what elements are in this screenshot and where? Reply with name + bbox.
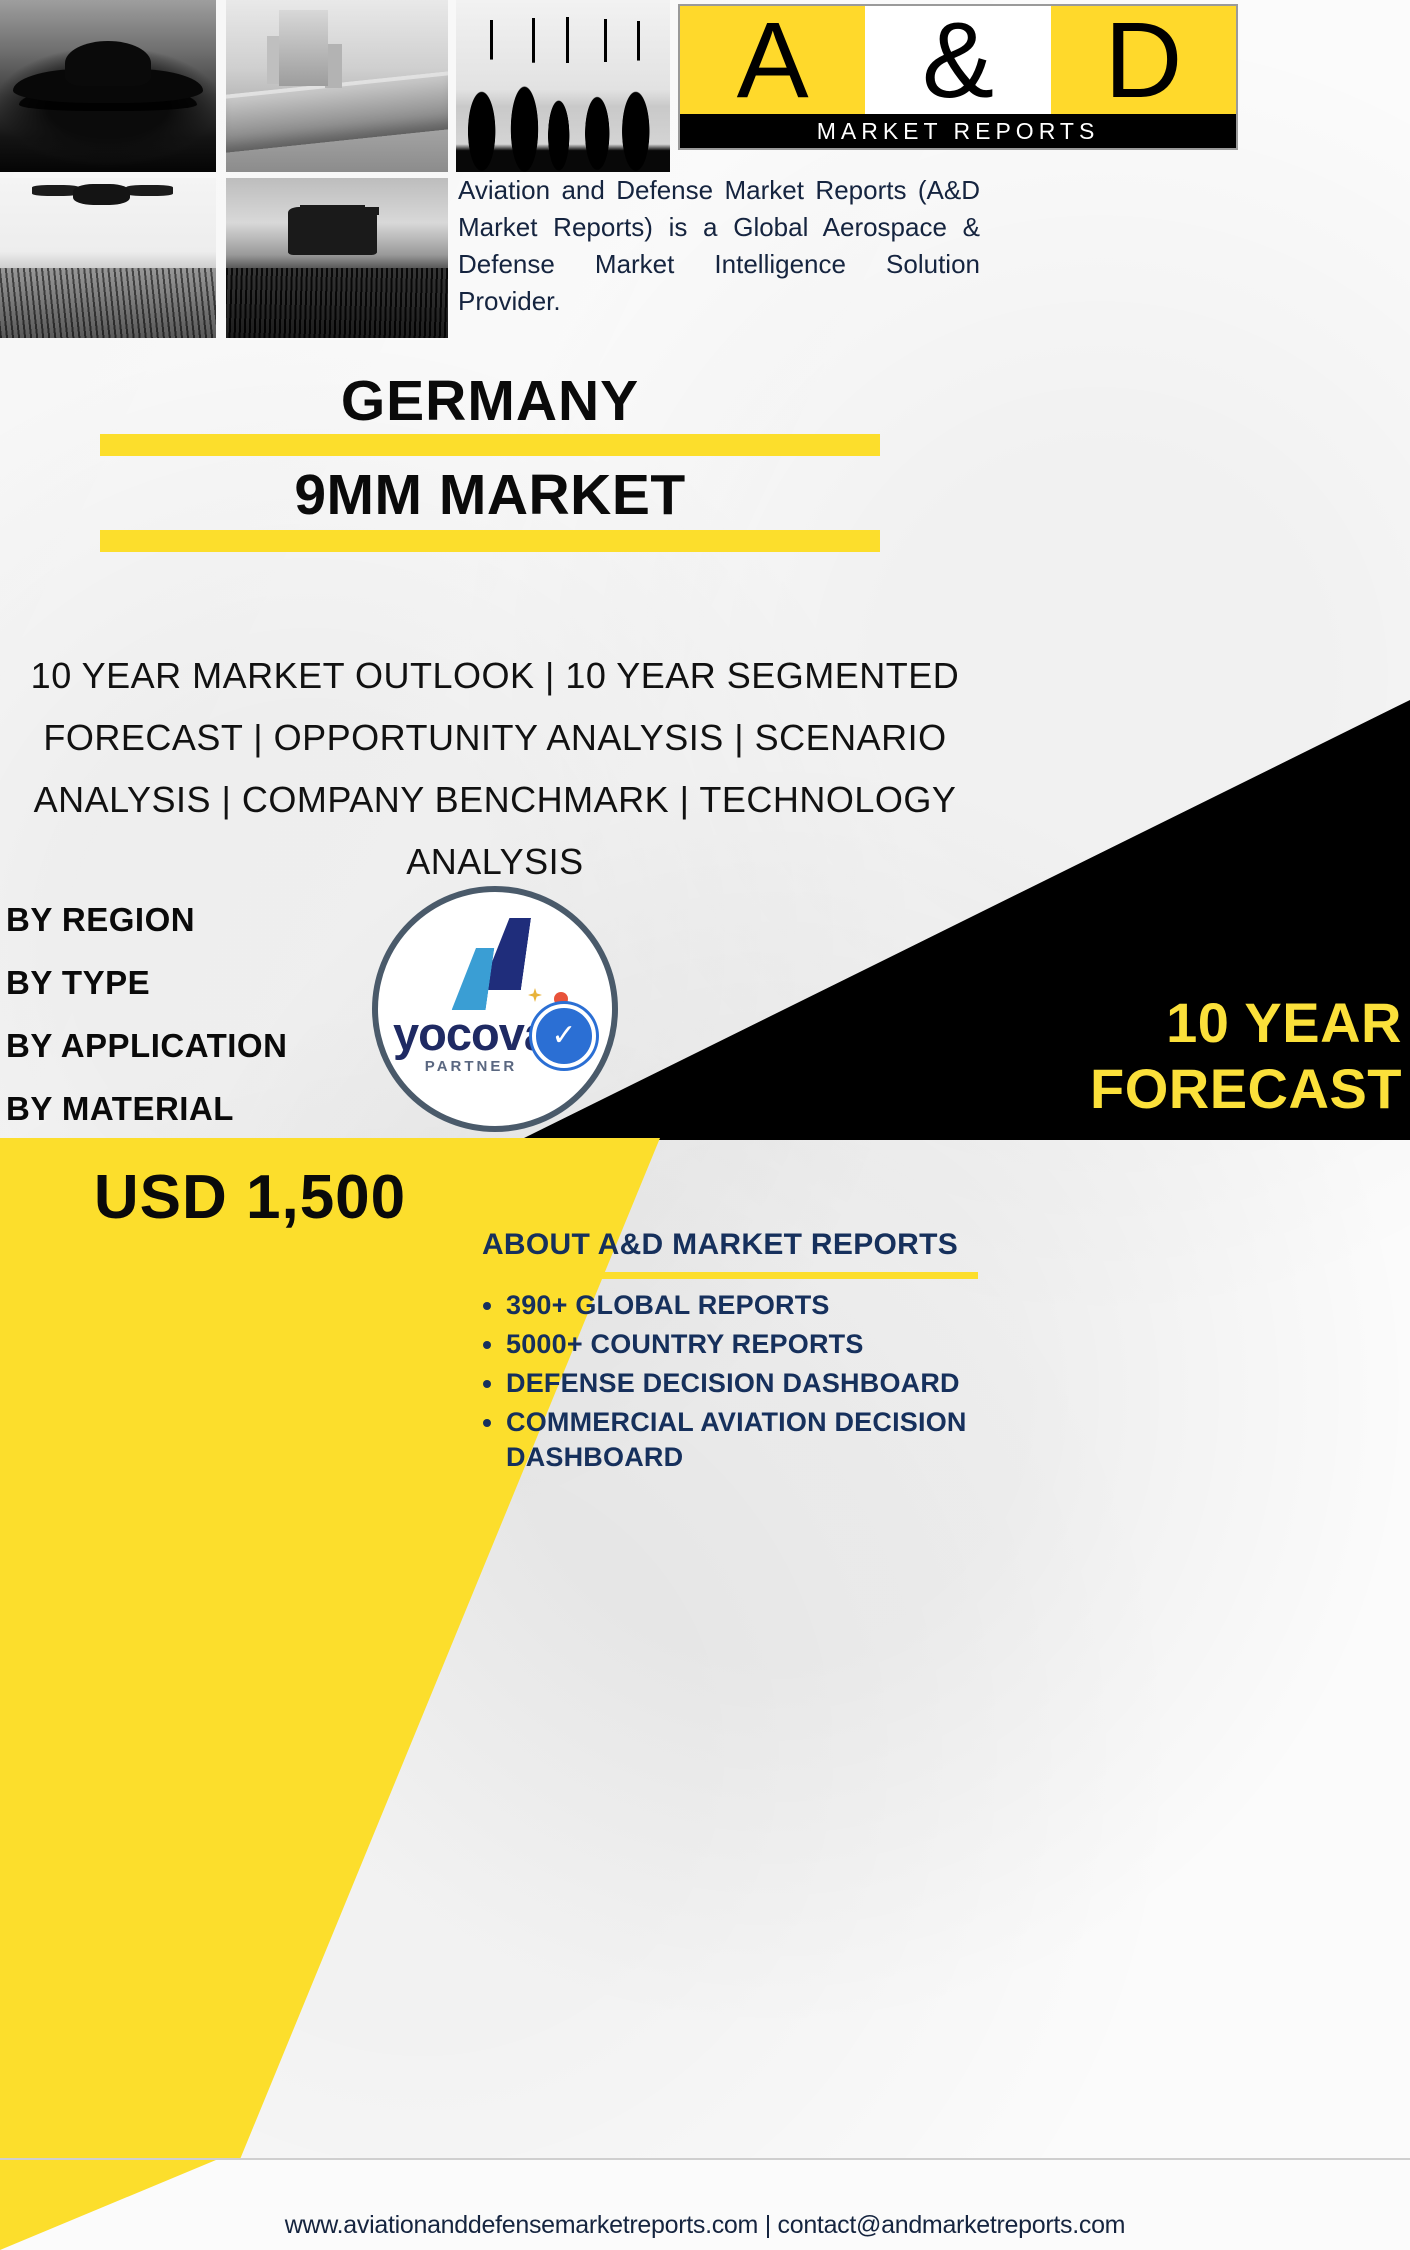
company-intro-paragraph: Aviation and Defense Market Reports (A&D… — [458, 172, 980, 320]
yocova-partner-label: PARTNER — [378, 1058, 564, 1075]
about-bullet-list: 390+ GLOBAL REPORTS 5000+ COUNTRY REPORT… — [470, 1288, 1026, 1479]
forecast-line-2: FORECAST — [620, 1056, 1402, 1122]
title-rule-bottom — [100, 530, 880, 552]
title-rule-top — [100, 434, 880, 456]
segmentation-item-material: BY MATERIAL — [6, 1077, 287, 1140]
segmentation-list: BY REGION BY TYPE BY APPLICATION BY MATE… — [6, 888, 287, 1140]
check-seal-icon: ✓ — [532, 1004, 596, 1068]
report-scope-text: 10 YEAR MARKET OUTLOOK | 10 YEAR SEGMENT… — [30, 645, 960, 893]
and-market-reports-logo: A & D MARKET REPORTS — [678, 4, 1238, 150]
forecast-callout: 10 YEAR FORECAST — [620, 990, 1410, 1122]
segmentation-item-application: BY APPLICATION — [6, 1014, 287, 1077]
helicopter-photo — [0, 178, 216, 338]
price-value: USD 1,500 — [40, 1162, 460, 1233]
logo-letter-a: A — [680, 6, 865, 114]
about-heading: ABOUT A&D MARKET REPORTS — [455, 1228, 985, 1262]
logo-letter-row: A & D — [680, 6, 1236, 114]
yocova-partner-badge: yocova PARTNER ✓ — [372, 886, 618, 1132]
sparkle-icon — [528, 988, 542, 1002]
aircraft-carrier-photo — [226, 0, 448, 172]
logo-letter-d: D — [1051, 6, 1236, 114]
yocova-chevron-light-icon — [452, 948, 495, 1010]
logo-letter-ampersand: & — [865, 6, 1050, 114]
about-bullet-commercial-dashboard: COMMERCIAL AVIATION DECISION DASHBOARD — [506, 1405, 1026, 1475]
about-bullet-country-reports: 5000+ COUNTRY REPORTS — [506, 1327, 1026, 1362]
report-flyer: A & D MARKET REPORTS Aviation and Defens… — [0, 0, 1410, 2250]
footer-contact-text[interactable]: www.aviationanddefensemarketreports.com … — [0, 2211, 1410, 2240]
soldiers-silhouette-photo — [456, 0, 670, 172]
segmentation-item-type: BY TYPE — [6, 951, 287, 1014]
page-title-market: 9MM MARKET — [0, 462, 980, 528]
segmentation-item-region: BY REGION — [6, 888, 287, 951]
about-bullet-global-reports: 390+ GLOBAL REPORTS — [506, 1288, 1026, 1323]
forecast-line-1: 10 YEAR — [620, 990, 1402, 1056]
about-heading-underline — [460, 1272, 978, 1279]
about-bullet-defense-dashboard: DEFENSE DECISION DASHBOARD — [506, 1366, 1026, 1401]
page-title-country: GERMANY — [0, 368, 980, 434]
fighter-jet-photo — [0, 0, 216, 172]
armored-vehicle-photo — [226, 178, 448, 338]
